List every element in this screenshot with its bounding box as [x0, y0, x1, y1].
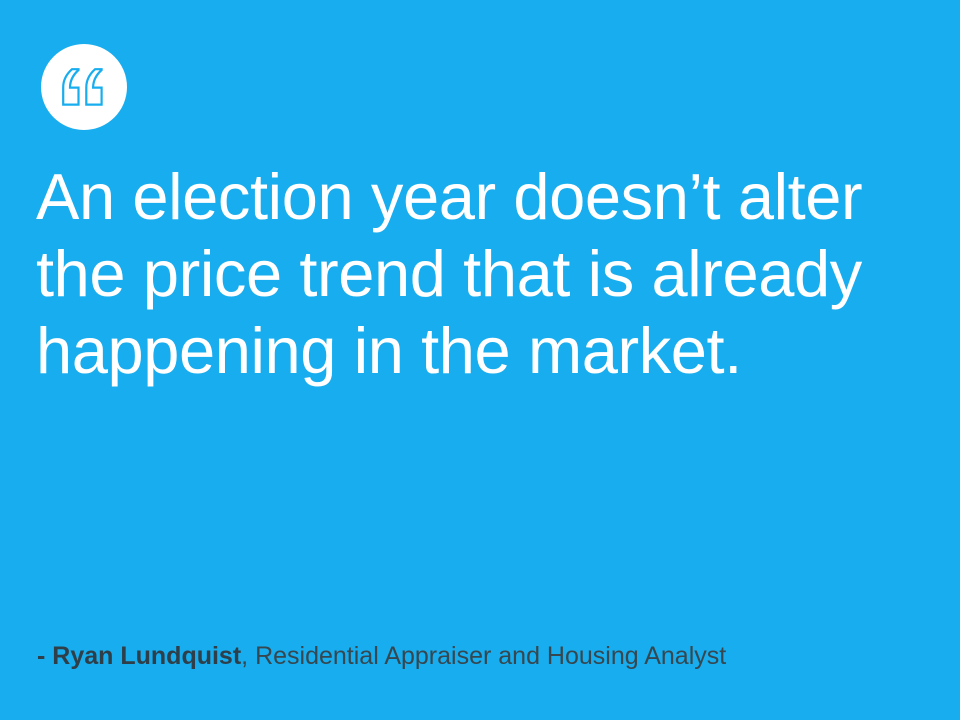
- quote-line-2: the price trend that is already: [36, 235, 920, 312]
- attribution-dash: -: [37, 642, 52, 670]
- attribution: - Ryan Lundquist, Residential Appraiser …: [37, 641, 726, 671]
- quote-text: An election year doesn’t alter the price…: [36, 158, 920, 389]
- quote-card: An election year doesn’t alter the price…: [0, 0, 960, 720]
- attribution-author: Ryan Lundquist: [52, 642, 241, 670]
- quote-line-3: happening in the market.: [36, 312, 920, 389]
- attribution-separator: ,: [241, 642, 255, 670]
- quote-badge: [41, 44, 127, 130]
- quote-line-1: An election year doesn’t alter: [36, 158, 920, 235]
- quotation-mark-icon: [61, 67, 107, 107]
- attribution-role: Residential Appraiser and Housing Analys…: [255, 642, 726, 670]
